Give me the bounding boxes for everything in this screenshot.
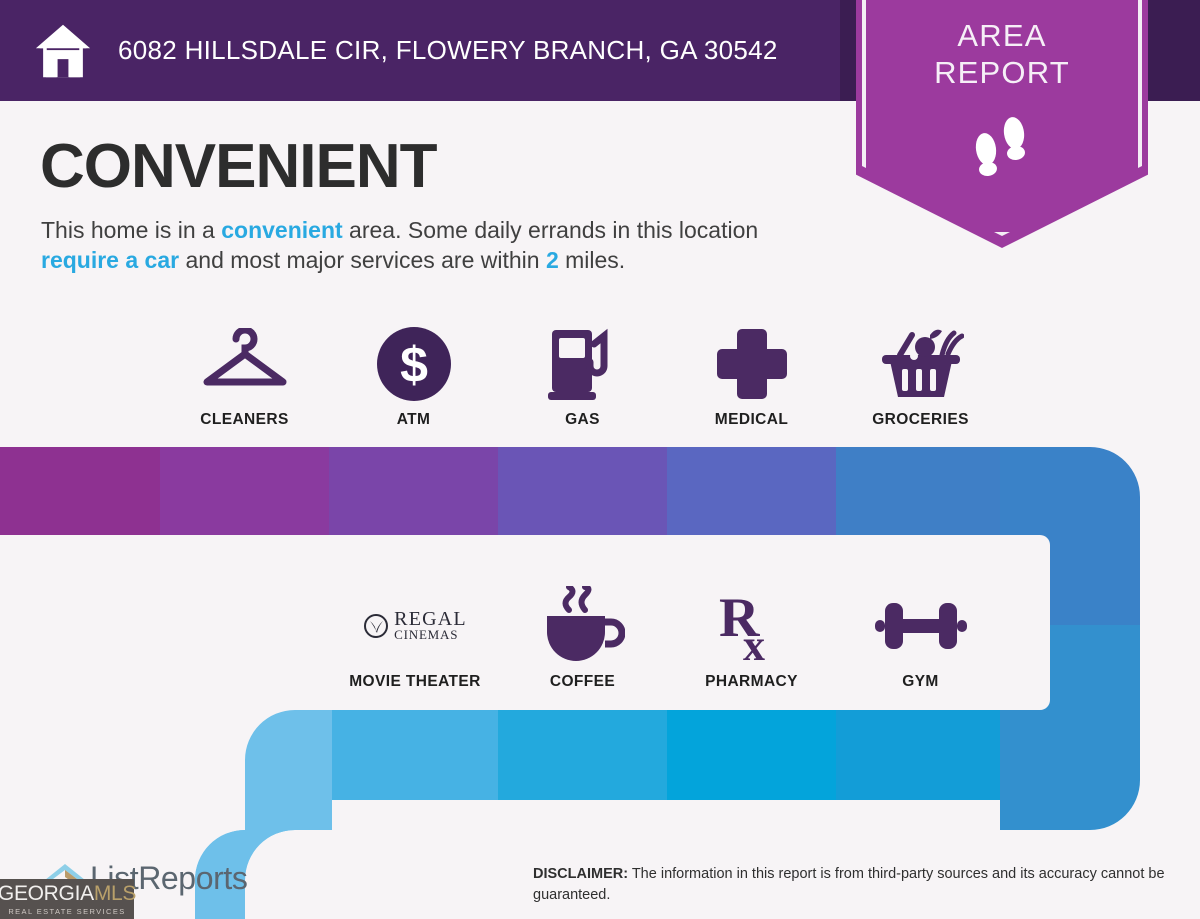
- header-bar: 6082 HILLSDALE CIR, FLOWERY BRANCH, GA 3…: [0, 0, 840, 101]
- mls-name-part2: MLS: [94, 882, 136, 905]
- mls-name: GEORGIAMLS: [0, 883, 136, 904]
- badge-line-1: AREA: [957, 18, 1046, 55]
- ribbon-cell-pharmacy: [667, 700, 836, 800]
- ribbon-corner-topright: [1000, 440, 1200, 625]
- mls-tagline: REAL ESTATE SERVICES: [8, 907, 125, 916]
- georgia-mls-logo: GEORGIAMLS REAL ESTATE SERVICES: [0, 879, 134, 919]
- ribbon-cell-cleaners: [160, 440, 329, 540]
- house-icon: [34, 23, 92, 79]
- ribbon-cell-movie: [332, 700, 498, 800]
- property-address: 6082 HILLSDALE CIR, FLOWERY BRANCH, GA 3…: [118, 35, 778, 66]
- ribbon-cell-home: [0, 440, 160, 540]
- badge-line-2: REPORT: [934, 55, 1070, 92]
- disclaimer-text: DISCLAIMER: The information in this repo…: [533, 864, 1173, 905]
- mls-name-part1: GEORGIA: [0, 882, 94, 905]
- ribbon-corner-bottomright: [1000, 625, 1200, 840]
- ribbon-cell-coffee: [498, 700, 667, 800]
- ribbon-cell-atm: [329, 440, 498, 540]
- footprints-icon: [966, 105, 1038, 183]
- ribbon-cell-medical: [667, 440, 836, 540]
- ribbon-cell-gas: [498, 440, 667, 540]
- ribbon-cell-gym: [836, 700, 1000, 800]
- disclaimer-body: The information in this report is from t…: [533, 866, 1165, 903]
- ribbon-cell-groceries: [836, 440, 1000, 540]
- disclaimer-label: DISCLAIMER:: [533, 866, 628, 882]
